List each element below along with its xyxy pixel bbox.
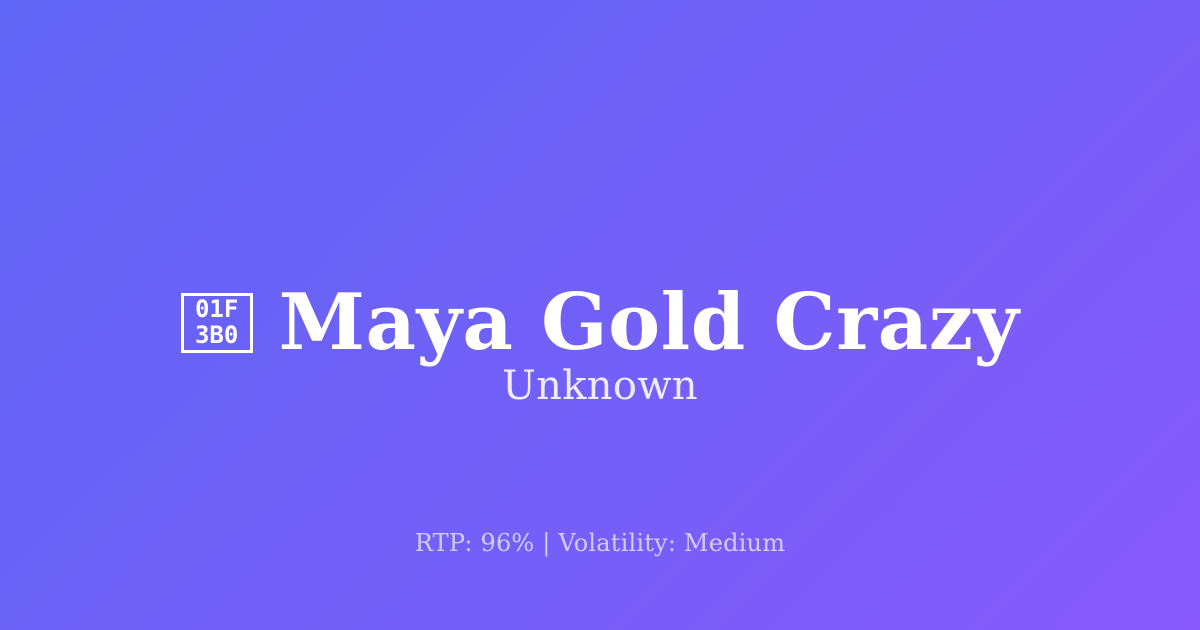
slot-machine-icon-codepoint-lower: 3B0 [195, 323, 238, 349]
slot-machine-icon-codepoint-upper: 01F [195, 297, 238, 323]
game-hero-card: 01F 3B0 Maya Gold Crazy Unknown RTP: 96%… [0, 0, 1200, 630]
slot-machine-icon: 01F 3B0 [181, 293, 253, 353]
game-title: Maya Gold Crazy [279, 284, 1020, 362]
game-provider: Unknown [0, 362, 1200, 410]
game-meta-line: RTP: 96% | Volatility: Medium [0, 528, 1200, 559]
